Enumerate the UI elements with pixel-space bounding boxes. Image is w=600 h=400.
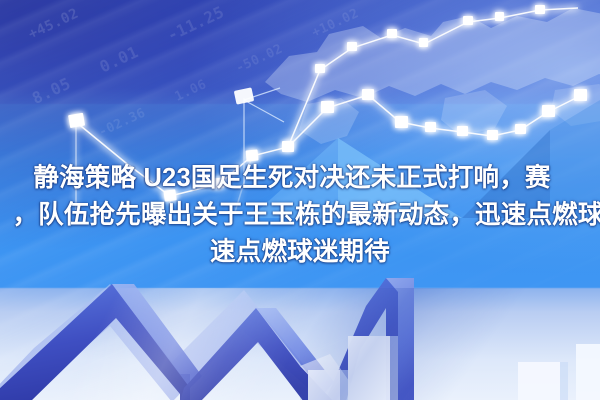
bar-chart-graphic [300,300,600,400]
headline-line-3: 速点燃球迷期待 [0,234,600,271]
headline-line-1: 静海策略 U23国足生死对决还未正式打响，赛 [0,160,592,197]
headline-line-2: ，队伍抢先曝出关于王玉栋的最新动态，迅速点燃球 [8,197,600,234]
banner-image: -58.02-02.36-11.25+45.02-02.3621.0245.02… [0,0,600,400]
headline-text: 静海策略 U23国足生死对决还未正式打响，赛 ，队伍抢先曝出关于王玉栋的最新动态… [0,160,600,271]
